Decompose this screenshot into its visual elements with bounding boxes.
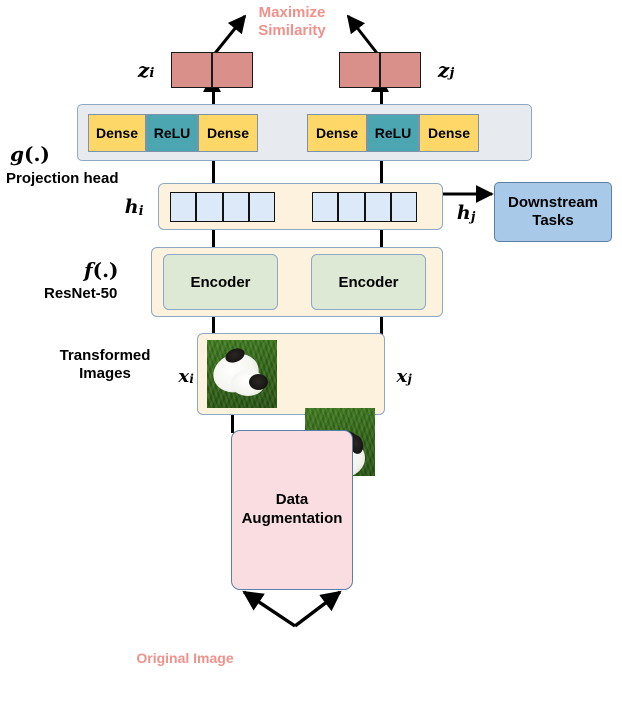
h-i-cell	[249, 192, 275, 222]
x-i-symbol: x	[178, 366, 189, 387]
projhead-left-dense-2: Dense	[198, 114, 258, 152]
data-augmentation-box: Data Augmentation	[231, 430, 353, 590]
z-i-cell	[171, 52, 212, 88]
encoder-function-label: f(.)	[84, 258, 146, 282]
h-j-vector	[312, 192, 417, 222]
z-i-label: zi	[130, 57, 162, 83]
x-j-label: xj	[390, 364, 418, 388]
simclr-architecture-diagram: Maximize Similarity zi zj Dense ReLU Den…	[0, 0, 622, 701]
projection-head-label: Projection head	[6, 168, 156, 190]
z-j-label: zj	[430, 57, 462, 83]
projhead-right-dense-1: Dense	[307, 114, 367, 152]
z-j-vector	[339, 52, 421, 88]
h-i-cell	[170, 192, 196, 222]
z-i-subscript: i	[149, 66, 154, 81]
h-i-vector	[170, 192, 275, 222]
encoder-architecture-label: ResNet-50	[44, 283, 148, 305]
projhead-left-relu: ReLU	[146, 114, 198, 152]
x-j-subscript: j	[407, 372, 411, 386]
z-j-cell	[380, 52, 421, 88]
projhead-left-dense-1: Dense	[88, 114, 146, 152]
projection-function-symbol: g	[10, 142, 24, 166]
h-i-cell	[223, 192, 249, 222]
dog-dark-patch	[249, 374, 268, 390]
transformed-images-label: Transformed Images	[42, 342, 168, 388]
transformed-image-xi	[207, 340, 277, 408]
h-j-cell	[365, 192, 391, 222]
x-j-symbol: x	[396, 366, 407, 387]
projhead-right-relu: ReLU	[367, 114, 419, 152]
x-i-subscript: i	[189, 372, 194, 386]
encoder-function-paren: (.)	[93, 258, 119, 282]
encoder-box-right: Encoder	[311, 254, 426, 310]
z-j-subscript: j	[450, 66, 455, 81]
projhead-right-dense-2: Dense	[419, 114, 479, 152]
h-i-cell	[196, 192, 222, 222]
h-i-subscript: i	[139, 203, 144, 218]
encoder-function-symbol: f	[84, 258, 93, 282]
h-j-symbol: h	[457, 202, 471, 224]
maximize-similarity-label: Maximize Similarity	[234, 2, 350, 42]
z-i-cell	[212, 52, 253, 88]
encoder-box-left: Encoder	[163, 254, 278, 310]
downstream-tasks-box[interactable]: Downstream Tasks	[494, 182, 612, 242]
z-j-symbol: z	[438, 58, 449, 82]
projection-function-label: g(.)	[10, 142, 72, 166]
z-j-cell	[339, 52, 380, 88]
z-i-vector	[171, 52, 253, 88]
h-j-cell	[312, 192, 338, 222]
original-image-label: Original Image	[110, 647, 260, 669]
h-i-label: hi	[118, 195, 150, 219]
x-i-label: xi	[172, 364, 200, 388]
h-j-cell	[338, 192, 364, 222]
h-i-symbol: h	[125, 196, 139, 218]
projection-function-paren: (.)	[24, 142, 50, 166]
z-i-symbol: z	[138, 58, 149, 82]
h-j-cell	[391, 192, 417, 222]
h-j-subscript: j	[471, 209, 476, 224]
h-j-label: hj	[450, 201, 482, 225]
